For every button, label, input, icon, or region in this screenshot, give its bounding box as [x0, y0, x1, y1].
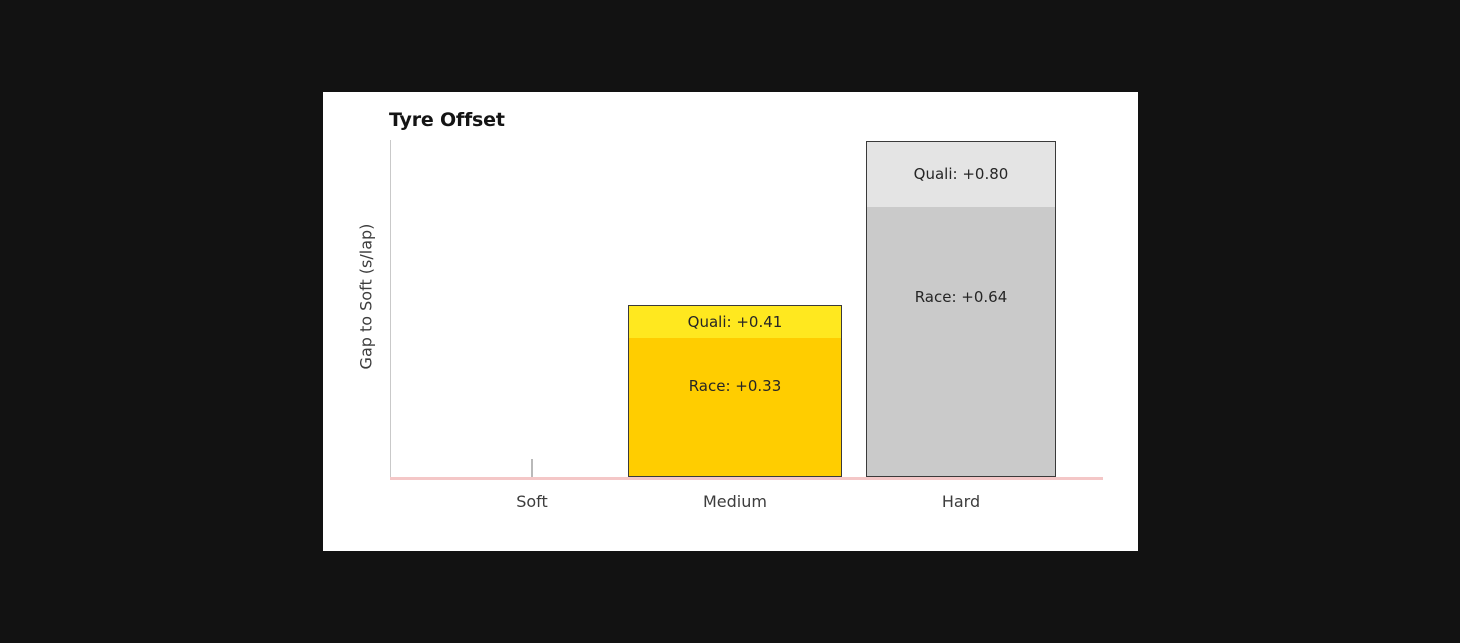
x-axis-baseline — [390, 477, 1103, 480]
y-axis-spine — [390, 140, 391, 477]
bar-soft-tick — [531, 459, 533, 477]
bar-label-medium-race: Race: +0.33 — [689, 377, 782, 395]
bar-group-soft[interactable]: Soft — [437, 140, 627, 477]
chart-card: Tyre Offset Gap to Soft (s/lap) Soft Qua… — [323, 92, 1138, 551]
bar-group-hard[interactable]: Quali: +0.80 Race: +0.64 Hard — [866, 140, 1056, 477]
x-tick-label-hard: Hard — [866, 492, 1056, 511]
chart-title: Tyre Offset — [389, 109, 505, 131]
plot-area: Soft Quali: +0.41 Race: +0.33 Medium Qua… — [390, 140, 1103, 477]
bar-stack-hard[interactable]: Quali: +0.80 Race: +0.64 — [866, 141, 1056, 477]
bar-segment-medium-race[interactable]: Race: +0.33 — [629, 338, 841, 476]
bar-group-medium[interactable]: Quali: +0.41 Race: +0.33 Medium — [628, 140, 842, 477]
bar-segment-hard-quali[interactable]: Quali: +0.80 — [867, 142, 1055, 207]
x-tick-label-medium: Medium — [628, 492, 842, 511]
y-axis-label: Gap to Soft (s/lap) — [357, 207, 376, 387]
bar-label-medium-quali: Quali: +0.41 — [688, 313, 783, 331]
bar-label-hard-race: Race: +0.64 — [915, 288, 1008, 306]
page-root: { "background_color": "#121212", "card_c… — [0, 0, 1460, 643]
bar-segment-medium-quali[interactable]: Quali: +0.41 — [629, 306, 841, 338]
bar-segment-hard-race[interactable]: Race: +0.64 — [867, 207, 1055, 476]
bar-stack-medium[interactable]: Quali: +0.41 Race: +0.33 — [628, 305, 842, 477]
bar-label-hard-quali: Quali: +0.80 — [914, 165, 1009, 183]
x-tick-label-soft: Soft — [437, 492, 627, 511]
